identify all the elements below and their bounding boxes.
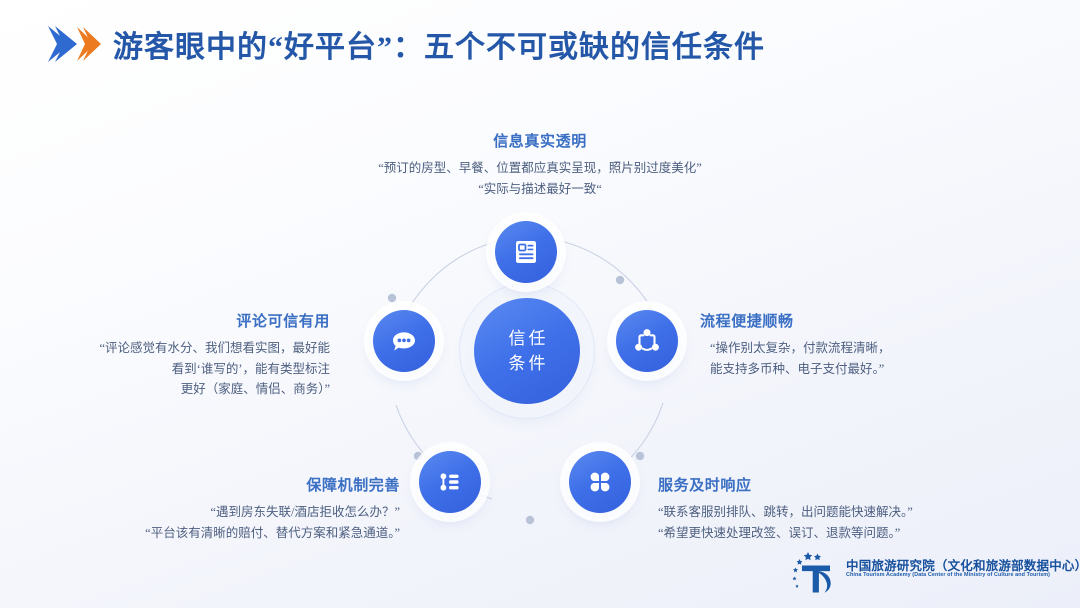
node-info-transparency[interactable]: [495, 221, 557, 283]
item-guarantee-mechanism: 保障机制完善 “遇到房东失联/酒店拒收怎么办？” “平台该有清晰的赔付、替代方案…: [0, 474, 400, 543]
item-heading: 保障机制完善: [0, 474, 400, 495]
hub-line-1: 信任: [506, 326, 549, 352]
hub-line-2: 条件: [506, 351, 549, 377]
item-quote-2: 能支持多币种、电子支付最好。”: [700, 359, 891, 380]
cta-stars-t-logo-icon: [788, 551, 842, 595]
item-info-transparency: 信息真实透明 “预订的房型、早餐、位置都应真实呈现，照片别过度美化” “实际与描…: [0, 130, 1080, 199]
item-quote-1: “遇到房东失联/酒店拒收怎么办？”: [0, 502, 400, 523]
item-quote-1: “操作别太复杂，付款流程清晰，: [700, 338, 891, 359]
four-petal-clover-icon: [585, 467, 615, 497]
organization-logo: 中国旅游研究院（文化和旅游部数据中心） China Tourism Academ…: [788, 549, 1050, 597]
network-nodes-icon: [631, 325, 663, 357]
node-process-convenience[interactable]: [616, 310, 678, 372]
item-heading: 服务及时响应: [658, 474, 913, 495]
item-quote-2: “实际与描述最好一致“: [0, 179, 1080, 200]
node-review-credibility[interactable]: [373, 310, 435, 372]
item-quote-1: “预订的房型、早餐、位置都应真实呈现，照片别过度美化”: [0, 158, 1080, 179]
item-quote-2: “希望更快速处理改签、误订、退款等问题。”: [658, 523, 913, 544]
article-document-icon: [511, 237, 541, 267]
node-service-response[interactable]: [569, 451, 631, 513]
item-quote-2: 看到‘谁写的’，能有类型标注: [0, 359, 330, 380]
item-heading: 信息真实透明: [0, 130, 1080, 151]
page-title: 游客眼中的“好平台”：五个不可或缺的信任条件: [113, 22, 765, 66]
item-service-response: 服务及时响应 “联系客服别排队、跳转，出问题能快速解决。” “希望更快速处理改签…: [658, 474, 913, 543]
item-heading: 流程便捷顺畅: [700, 310, 891, 331]
node-guarantee-mechanism[interactable]: [419, 451, 481, 513]
org-name-en: China Tourism Academy (Data Center of th…: [846, 572, 1050, 578]
item-quote-3: 更好（家庭、情侣、商务）”: [0, 379, 330, 400]
item-quote-2: “平台该有清晰的赔付、替代方案和紧急通道。”: [0, 523, 400, 544]
item-quote-1: “联系客服别排队、跳转，出问题能快速解决。”: [658, 502, 913, 523]
item-process-convenience: 流程便捷顺畅 “操作别太复杂，付款流程清晰， 能支持多币种、电子支付最好。”: [700, 310, 891, 379]
chat-bubble-dots-icon: [388, 325, 420, 357]
item-heading: 评论可信有用: [0, 310, 330, 331]
item-quote-1: “评论感觉有水分、我们想看实图，最好能: [0, 338, 330, 359]
item-review-credibility: 评论可信有用 “评论感觉有水分、我们想看实图，最好能 看到‘谁写的’，能有类型标…: [0, 310, 330, 400]
ordered-list-icon: [435, 467, 465, 497]
double-chevron-icon: [47, 23, 109, 65]
slide-header: 游客眼中的“好平台”：五个不可或缺的信任条件: [0, 0, 1080, 88]
trust-conditions-diagram: 信任 条件: [0, 88, 1080, 548]
diagram-hub: 信任 条件: [474, 298, 580, 404]
